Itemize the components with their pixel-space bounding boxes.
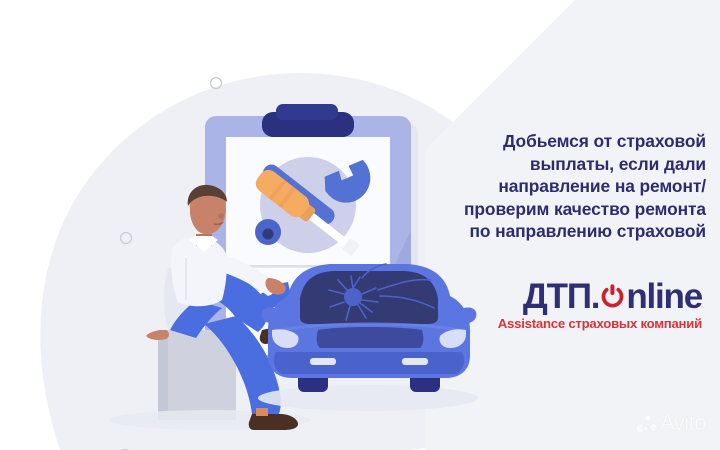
car-bumper <box>274 352 464 374</box>
headline-text: Добьемся от страховой выплаты, если дали… <box>416 130 706 243</box>
car-windshield <box>300 271 438 324</box>
avito-dots-icon <box>636 413 657 434</box>
logo-text-left: ДТП. <box>523 279 599 314</box>
ad-banner: Добьемся от страховой выплаты, если дали… <box>0 0 720 450</box>
logo-tagline: Assistance страховых компаний <box>427 316 702 331</box>
power-button-icon <box>599 283 626 310</box>
logo-text-right: nline <box>626 279 702 314</box>
logo-wordmark: ДТП. nline <box>427 278 702 314</box>
brand-logo[interactable]: ДТП. nline Assistance страховых компаний <box>427 278 702 331</box>
avito-label: Avito <box>660 410 706 436</box>
car-grille <box>317 327 424 348</box>
avito-watermark: Avito <box>636 410 706 436</box>
